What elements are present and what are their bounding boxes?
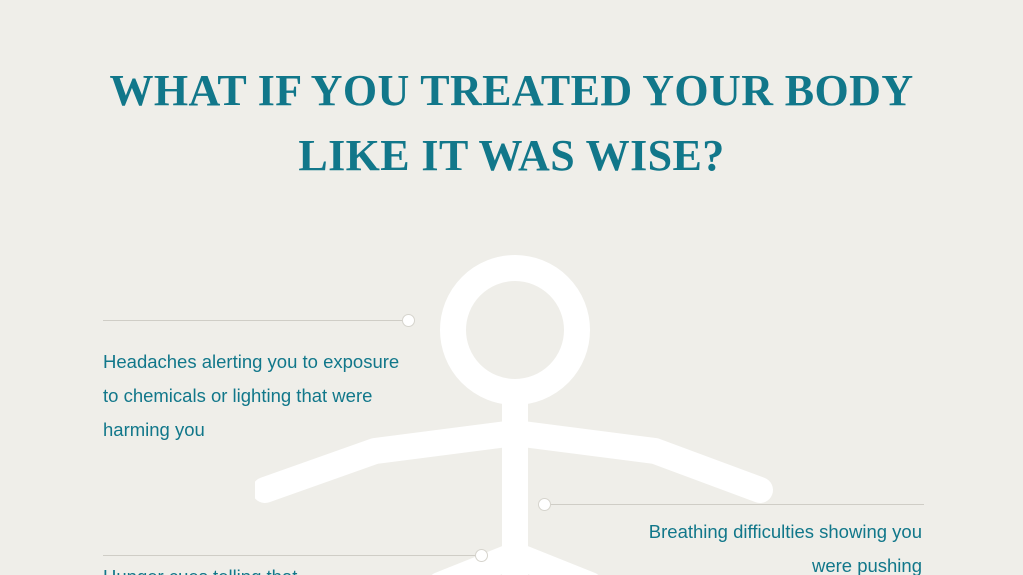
page-title-line-2: LIKE IT WAS WISE? [0, 123, 1023, 188]
annotation-breathing: Breathing difficulties showing you were … [620, 515, 922, 575]
page-title: WHAT IF YOU TREATED YOUR BODY LIKE IT WA… [0, 58, 1023, 188]
connector-line-breathing [548, 504, 924, 505]
annotation-breathing-text: Breathing difficulties showing you were … [620, 515, 922, 575]
connector-dot-hunger-cues [475, 549, 488, 562]
annotation-headaches: Headaches alerting you to exposure to ch… [103, 345, 403, 447]
connector-line-hunger-cues [103, 555, 481, 556]
annotation-headaches-text: Headaches alerting you to exposure to ch… [103, 345, 403, 447]
annotation-hunger-cues-text: Hunger cues telling that [103, 560, 403, 575]
slide-canvas: WHAT IF YOU TREATED YOUR BODY LIKE IT WA… [0, 0, 1023, 575]
connector-dot-breathing [538, 498, 551, 511]
connector-dot-headaches [402, 314, 415, 327]
annotation-hunger-cues: Hunger cues telling that [103, 560, 403, 575]
page-title-line-1: WHAT IF YOU TREATED YOUR BODY [0, 58, 1023, 123]
connector-line-headaches [103, 320, 408, 321]
